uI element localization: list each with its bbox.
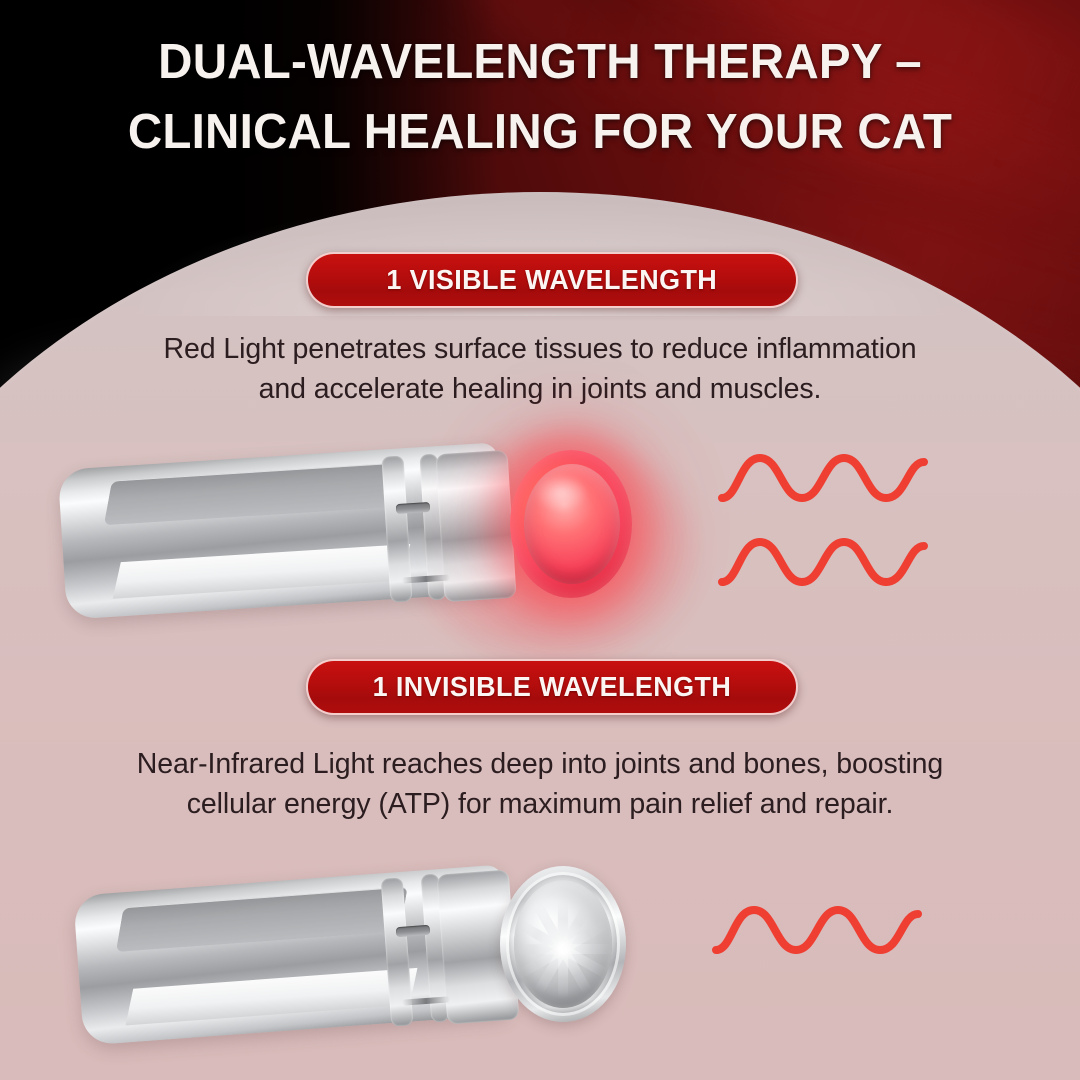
- wave-invisible-1: [712, 900, 922, 970]
- badge-invisible-wavelength: 1 INVISIBLE WAVELENGTH: [306, 659, 798, 715]
- device-highlight-strip: [113, 544, 410, 599]
- page-title: DUAL-WAVELENGTH THERAPY – CLINICAL HEALI…: [16, 28, 1064, 167]
- device-power-button[interactable]: [396, 502, 431, 514]
- badge-label: 1 INVISIBLE WAVELENGTH: [373, 671, 732, 703]
- device-top-panel: [104, 462, 402, 525]
- infographic-canvas: DUAL-WAVELENGTH THERAPY – CLINICAL HEALI…: [0, 0, 1080, 1080]
- wave-visible-1: [718, 448, 928, 518]
- wave-visible-2: [718, 532, 928, 602]
- badge-label: 1 VISIBLE WAVELENGTH: [387, 264, 718, 296]
- badge-visible-wavelength: 1 VISIBLE WAVELENGTH: [306, 252, 798, 308]
- device-highlight-strip: [126, 968, 418, 1026]
- lens-red-glint: [534, 474, 588, 512]
- device-top-panel: [116, 886, 408, 952]
- description-invisible-wavelength: Near-Infrared Light reaches deep into jo…: [70, 744, 1010, 825]
- lens-rim: [506, 872, 620, 1016]
- description-visible-wavelength: Red Light penetrates surface tissues to …: [90, 329, 990, 410]
